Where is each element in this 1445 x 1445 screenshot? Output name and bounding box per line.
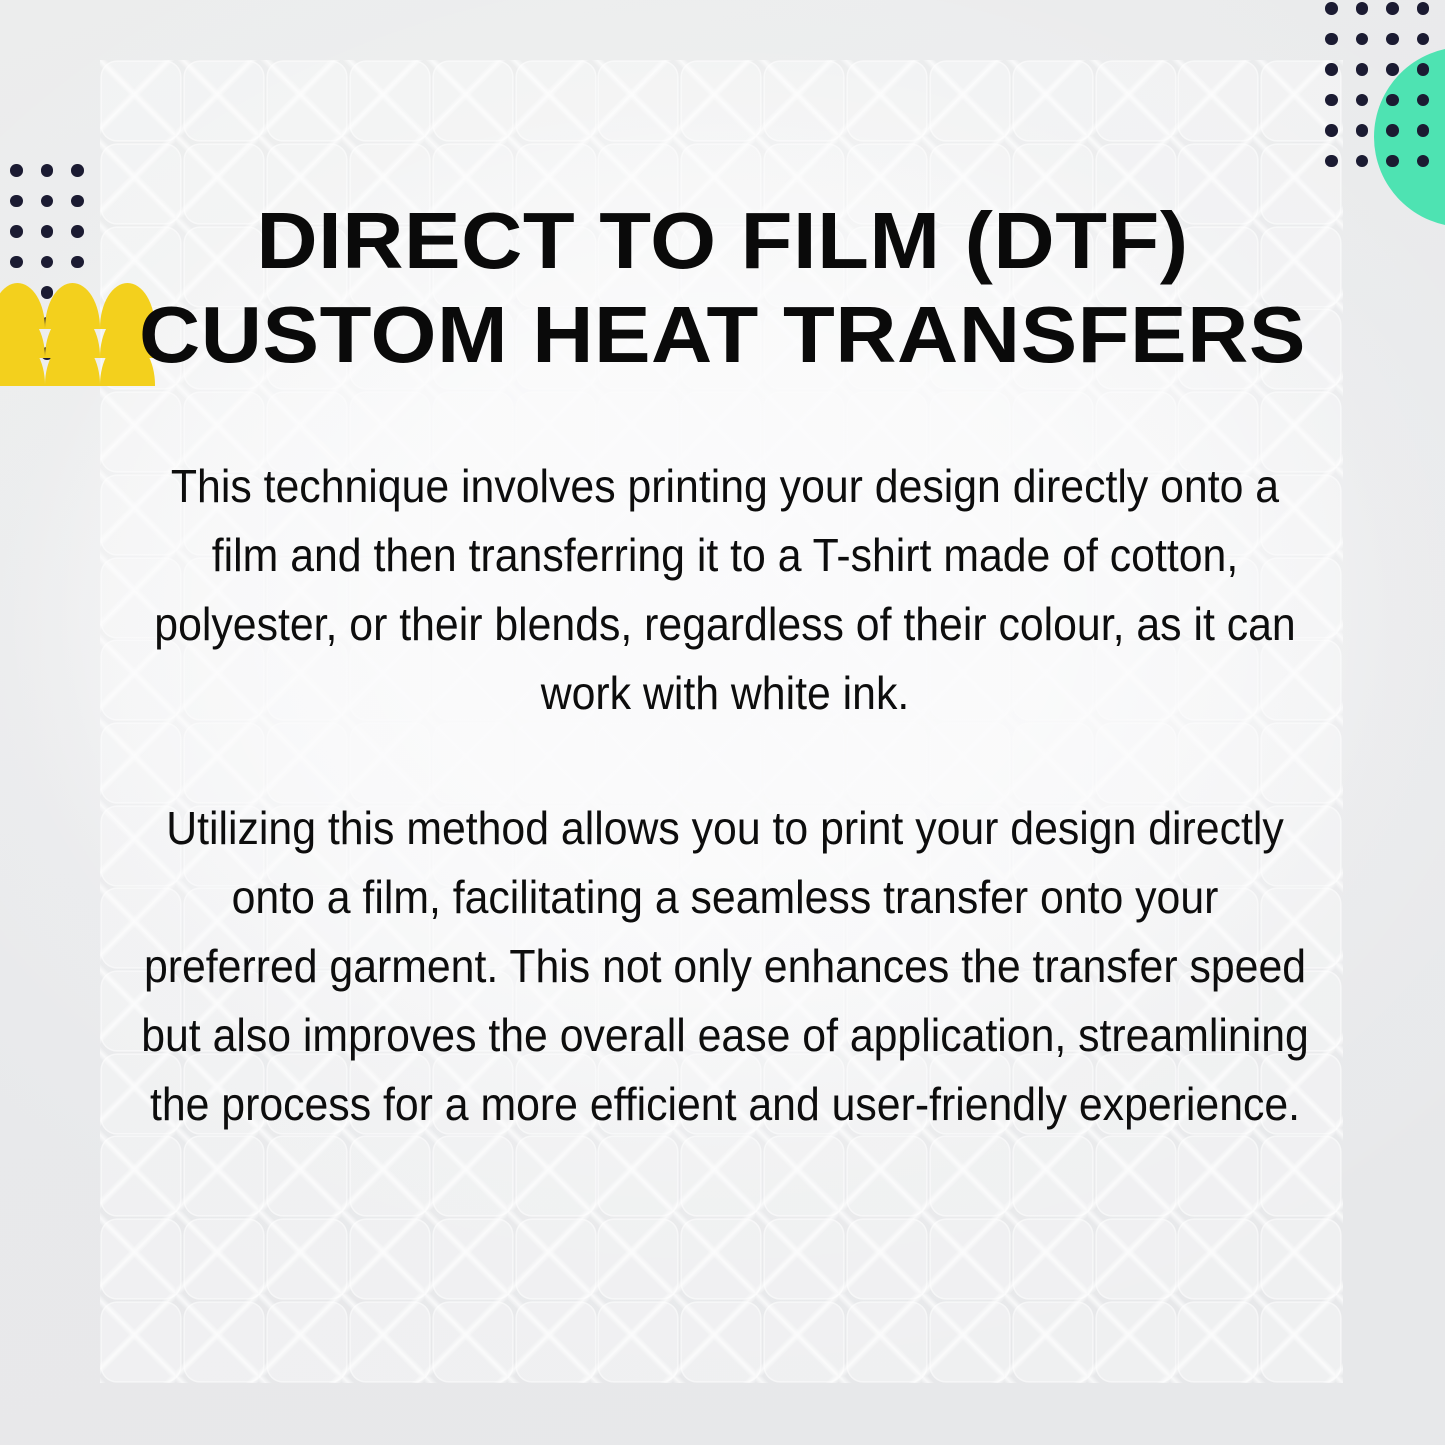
page-title-line-1: Direct To Film (DTF) (0, 194, 1445, 288)
body-copy: This technique involves printing your de… (140, 452, 1310, 1139)
body-paragraph-1: This technique involves printing your de… (140, 452, 1310, 728)
poster-content: Direct To Film (DTF) Custom Heat Transfe… (0, 0, 1445, 1445)
page-title-line-2: Custom Heat Transfers (0, 288, 1445, 382)
page-title: Direct To Film (DTF) Custom Heat Transfe… (0, 194, 1445, 383)
body-paragraph-2: Utilizing this method allows you to prin… (140, 794, 1310, 1139)
poster-canvas: Direct To Film (DTF) Custom Heat Transfe… (0, 0, 1445, 1445)
